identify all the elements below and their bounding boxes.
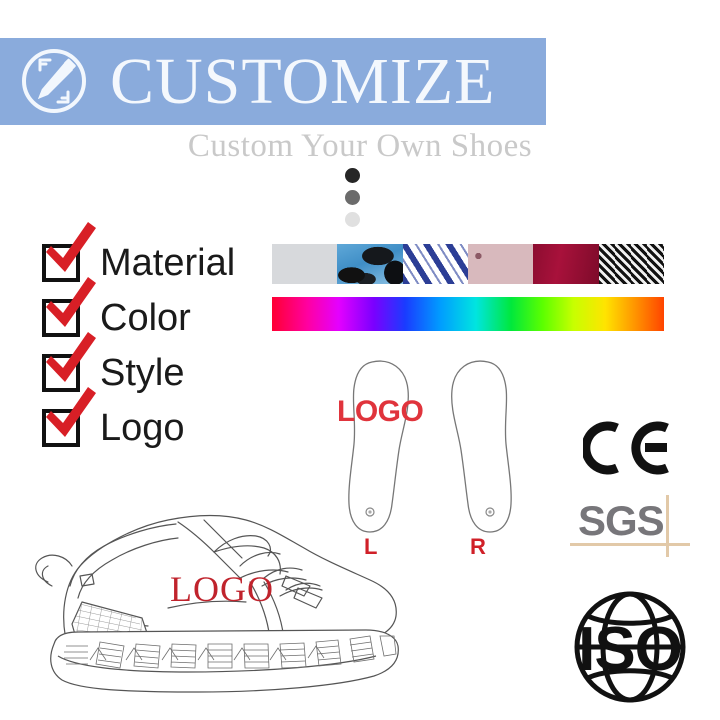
iso-globe-logo: ISO — [555, 586, 705, 708]
iso-label: ISO — [578, 615, 682, 684]
checklist-item-label: Logo — [100, 403, 185, 453]
swatch-maroon-solid[interactable] — [533, 244, 598, 284]
page-subtitle: Custom Your Own Shoes — [0, 128, 720, 165]
check-icon — [38, 220, 100, 282]
feature-checklist: Material Color Style Logo — [42, 238, 272, 458]
check-icon — [38, 275, 100, 337]
sgs-label: SGS — [578, 497, 664, 545]
sgs-vertical-rule — [666, 495, 669, 557]
checklist-item-logo[interactable]: Logo — [42, 403, 272, 458]
insole-logo-text: LOGO — [337, 395, 423, 429]
customize-banner: CUSTOMIZE Custom Your Own Shoes Material… — [0, 0, 720, 720]
swatch-plain-light-gray[interactable] — [272, 244, 337, 284]
swatch-blue-white-diagonal-stripe[interactable] — [403, 244, 468, 284]
color-spectrum-picker[interactable] — [272, 297, 664, 331]
insole-right — [452, 361, 511, 532]
checklist-item-label: Style — [100, 348, 184, 398]
carousel-dot-2[interactable] — [345, 190, 360, 205]
swatch-blue-black-camo[interactable] — [337, 244, 402, 284]
carousel-dots — [341, 168, 363, 234]
swatch-floral-print[interactable] — [468, 244, 533, 284]
material-swatch-strip — [272, 244, 664, 284]
ce-mark-icon — [583, 420, 673, 476]
pencil-ruler-circle-icon — [18, 45, 90, 117]
carousel-dot-1[interactable] — [345, 168, 360, 183]
checklist-item-label: Material — [100, 238, 235, 288]
sgs-mark: SGS — [570, 495, 690, 557]
checklist-item-label: Color — [100, 293, 191, 343]
check-icon — [38, 330, 100, 392]
shoe-logo-text: LOGO — [170, 568, 274, 610]
insole-right-label: R — [470, 534, 486, 560]
page-title: CUSTOMIZE — [110, 40, 540, 124]
carousel-dot-3[interactable] — [345, 212, 360, 227]
check-icon — [38, 385, 100, 447]
swatch-black-white-herringbone[interactable] — [599, 244, 664, 284]
